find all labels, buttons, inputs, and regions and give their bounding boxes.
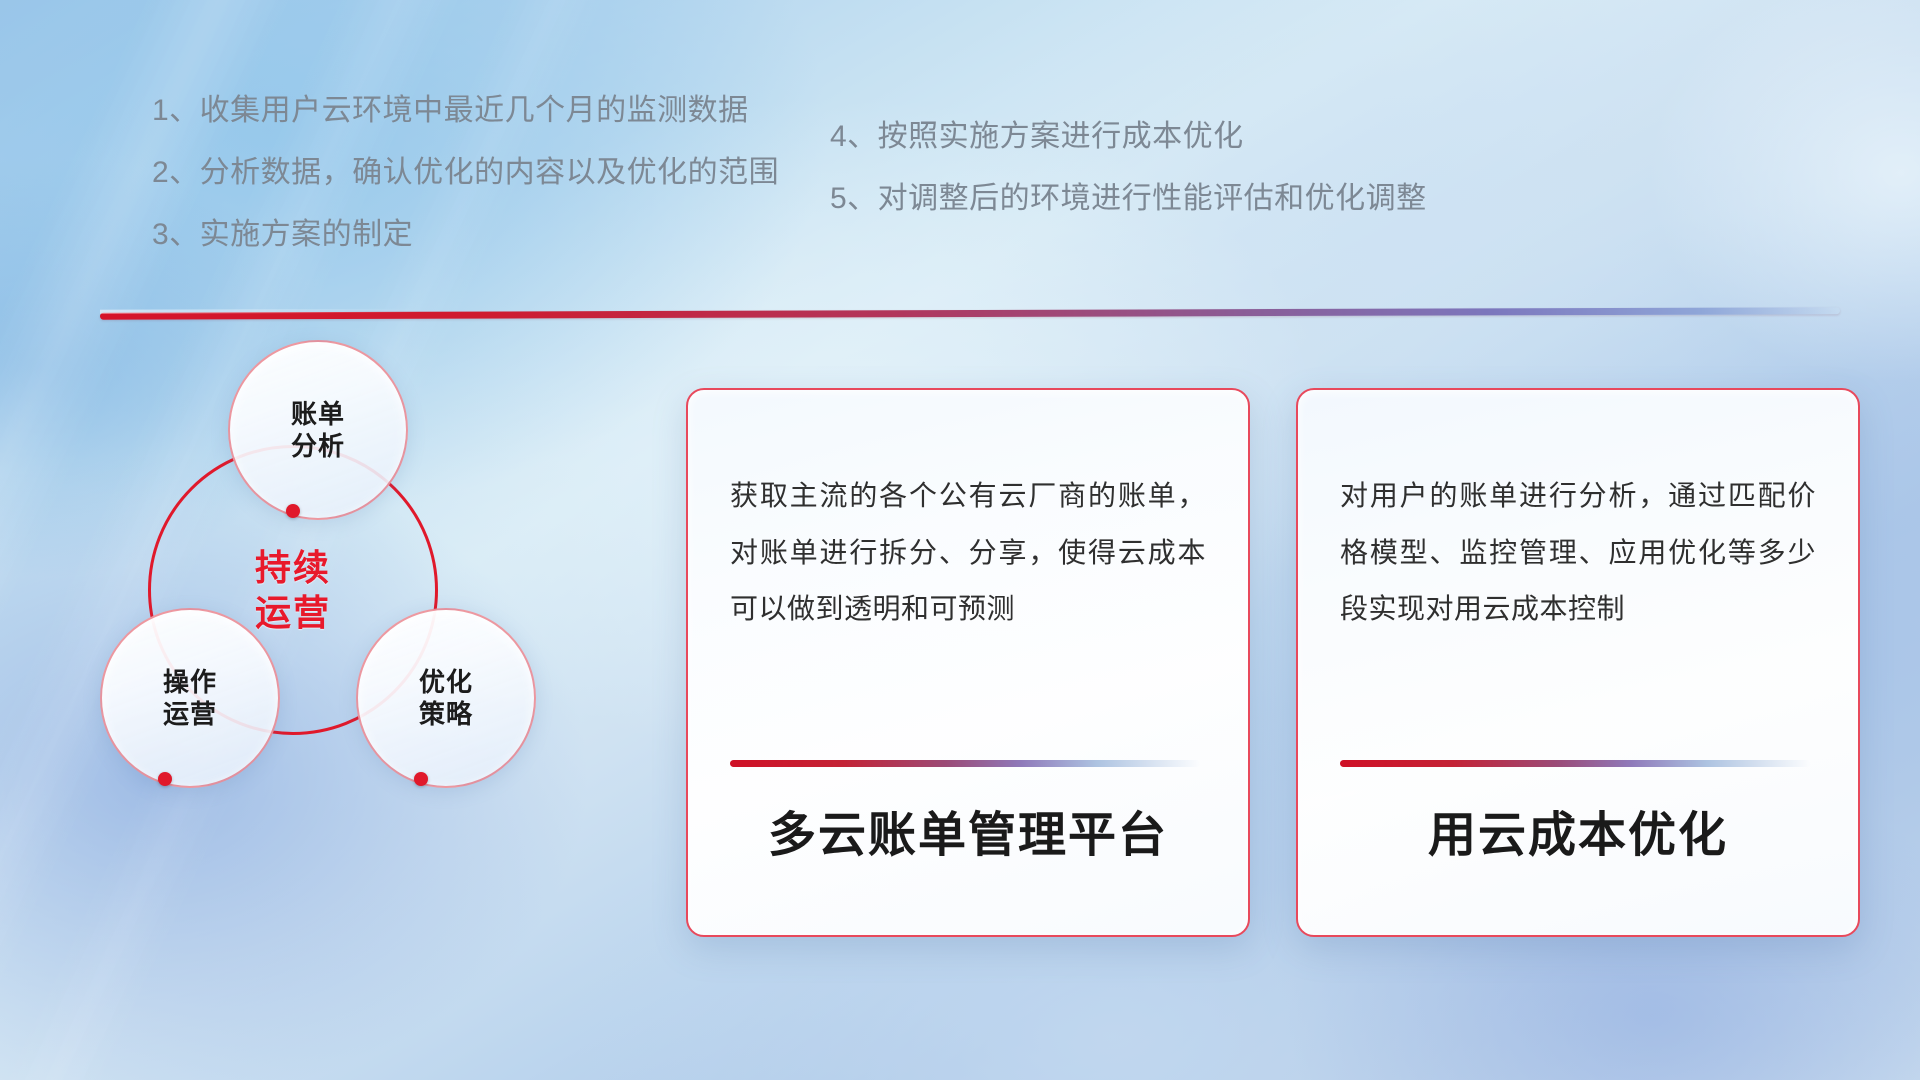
card-accent-rule: [730, 760, 1200, 767]
card-title: 多云账单管理平台: [688, 795, 1248, 865]
venn-diagram: 账单 分析 操作 运营 优化 策略 持续 运营: [100, 340, 570, 900]
step-item: 5、对调整后的环境进行性能评估和优化调整: [830, 184, 1427, 214]
steps-right-column: 4、按照实施方案进行成本优化 5、对调整后的环境进行性能评估和优化调整: [830, 122, 1427, 246]
step-item: 1、收集用户云环境中最近几个月的监测数据: [152, 96, 779, 126]
venn-label-line: 账单: [230, 398, 406, 430]
venn-node-dot-left: [158, 772, 172, 786]
info-card-cost-optimization[interactable]: 对用户的账单进行分析，通过匹配价格模型、监控管理、应用优化等多少段实现对用云成本…: [1296, 388, 1860, 937]
card-title: 用云成本优化: [1298, 795, 1858, 865]
card-accent-rule: [1340, 760, 1810, 767]
venn-label-continuous-operation: 持续 运营: [148, 445, 438, 735]
step-item: 3、实施方案的制定: [152, 220, 779, 250]
venn-label-line: 持续: [255, 545, 331, 590]
step-item: 2、分析数据，确认优化的内容以及优化的范围: [152, 158, 779, 188]
info-card-billing-platform[interactable]: 获取主流的各个公有云厂商的账单，对账单进行拆分、分享，使得云成本可以做到透明和可…: [686, 388, 1250, 937]
venn-label-line: 运营: [255, 590, 331, 635]
venn-node-dot-right: [414, 772, 428, 786]
card-body-text: 对用户的账单进行分析，通过匹配价格模型、监控管理、应用优化等多少段实现对用云成本…: [1340, 468, 1816, 638]
step-item: 4、按照实施方案进行成本优化: [830, 122, 1427, 152]
card-body-text: 获取主流的各个公有云厂商的账单，对账单进行拆分、分享，使得云成本可以做到透明和可…: [730, 468, 1206, 638]
steps-left-column: 1、收集用户云环境中最近几个月的监测数据 2、分析数据，确认优化的内容以及优化的…: [152, 96, 779, 282]
venn-node-dot-top: [286, 504, 300, 518]
